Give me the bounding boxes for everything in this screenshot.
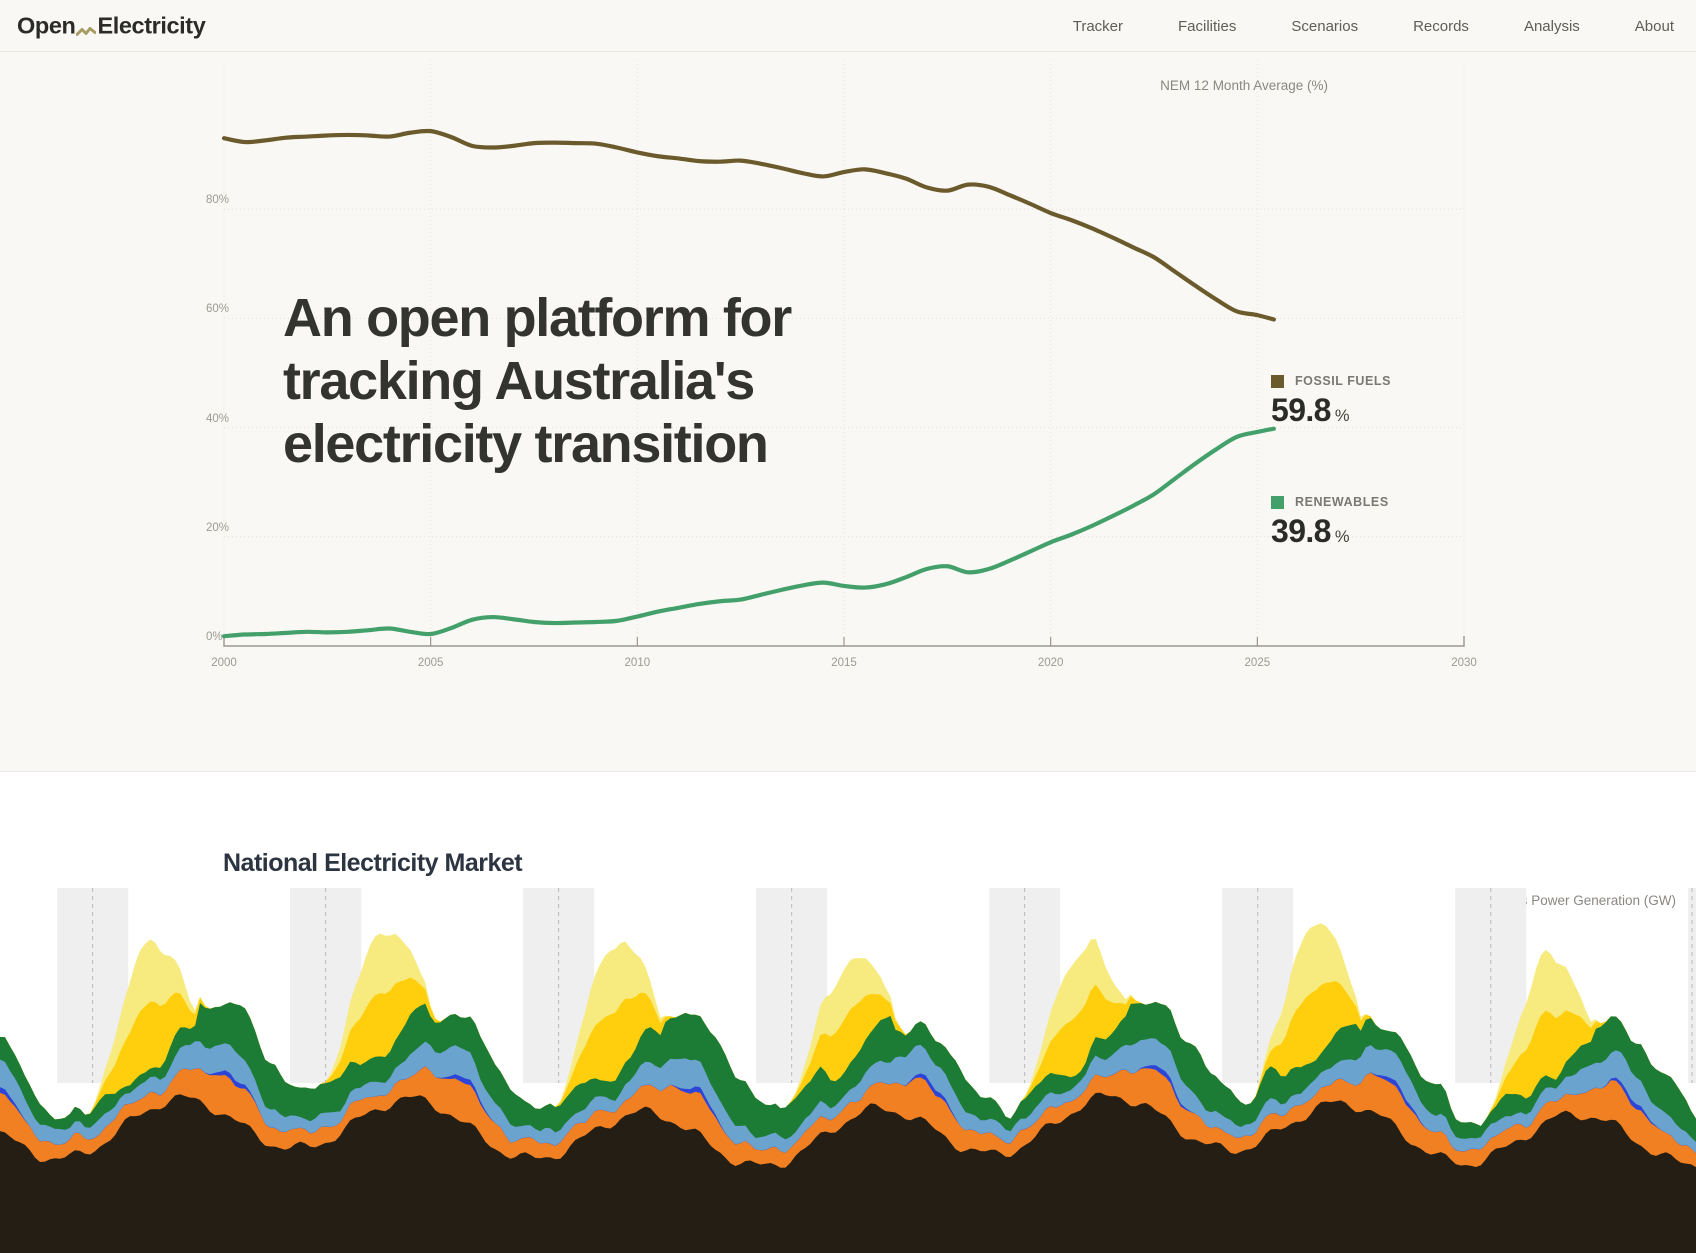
y-axis-tick-label: 40% [206,413,229,425]
brand-logo[interactable]: Open Electricity [17,12,205,39]
y-axis-tick-label: 0% [206,631,223,643]
x-axis-tick-label: 2030 [1451,657,1477,669]
main-nav: Tracker Facilities Scenarios Records Ana… [1073,0,1674,52]
brand-name-part2: Electricity [97,12,205,39]
fossil-fuels-unit: % [1335,407,1349,426]
renewables-swatch-icon [1271,496,1284,509]
renewables-label: RENEWABLES [1295,495,1389,509]
nav-item-tracker[interactable]: Tracker [1073,18,1123,35]
power-generation-area-chart[interactable] [0,888,1696,1253]
y-axis-tick-label: 20% [206,522,229,534]
page-root: Open Electricity Tracker Facilities Scen… [0,0,1696,1253]
renewables-value-group: 39.8 % [1271,513,1389,550]
fossil-fuels-label: FOSSIL FUELS [1295,374,1391,388]
hero-section: NEM 12 Month Average (%) An open platfor… [0,52,1696,772]
legend-fossil-fuels[interactable]: FOSSIL FUELS 59.8 % [1271,374,1391,429]
renewables-value: 39.8 [1271,513,1331,550]
hero-chart-caption: NEM 12 Month Average (%) [1160,78,1328,93]
fossil-fuels-value: 59.8 [1271,392,1331,429]
x-axis-tick-label: 2015 [831,657,857,669]
nav-item-analysis[interactable]: Analysis [1524,18,1580,35]
nav-item-about[interactable]: About [1635,18,1674,35]
nav-item-records[interactable]: Records [1413,18,1469,35]
legend-renewables[interactable]: RENEWABLES 39.8 % [1271,495,1389,550]
x-axis-tick-label: 2000 [211,657,237,669]
x-axis-tick-label: 2020 [1038,657,1064,669]
nem-section: National Electricity Market Last 7 days … [0,773,1696,1253]
renewables-unit: % [1335,528,1349,547]
nav-item-scenarios[interactable]: Scenarios [1291,18,1358,35]
x-axis-tick-label: 2010 [625,657,651,669]
y-axis-tick-label: 60% [206,303,229,315]
nav-item-facilities[interactable]: Facilities [1178,18,1236,35]
site-header: Open Electricity Tracker Facilities Scen… [0,0,1696,52]
wave-icon [76,20,96,36]
page-title: An open platform for tracking Australia'… [283,287,883,476]
y-axis-tick-label: 80% [206,194,229,206]
x-axis-tick-label: 2005 [418,657,444,669]
fossil-fuels-value-group: 59.8 % [1271,392,1391,429]
brand-name-part1: Open [17,12,75,39]
fossil-fuels-swatch-icon [1271,375,1284,388]
x-axis-tick-label: 2025 [1245,657,1271,669]
section-title: National Electricity Market [223,849,522,878]
